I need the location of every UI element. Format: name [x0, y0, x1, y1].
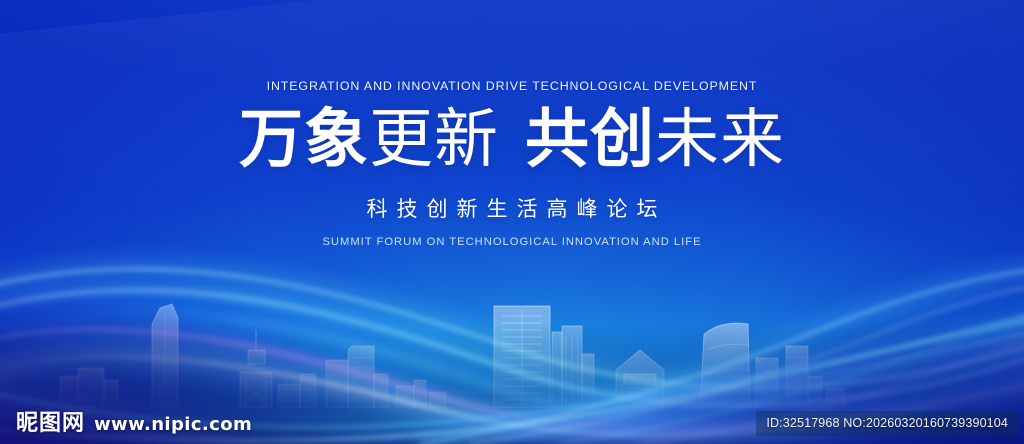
asset-id-text: ID:32517968 NO:20260320160739390104 — [766, 416, 1008, 430]
watermark-brand-cn: 昵图网 — [16, 413, 85, 435]
poster-eyebrow: INTEGRATION AND INNOVATION DRIVE TECHNOL… — [0, 79, 1024, 93]
headline-part1-bold: 万象 — [239, 103, 369, 175]
poster-copy: INTEGRATION AND INNOVATION DRIVE TECHNOL… — [0, 0, 1024, 248]
poster-headline: 万象更新共创未来 — [0, 107, 1024, 171]
headline-part2-bold: 共创 — [525, 103, 655, 175]
poster-subtitle-en: SUMMIT FORUM ON TECHNOLOGICAL INNOVATION… — [0, 236, 1024, 248]
headline-part2-light: 未来 — [655, 103, 785, 175]
headline-part1-light: 更新 — [369, 103, 499, 175]
asset-id-badge: ID:32517968 NO:20260320160739390104 — [756, 411, 1018, 436]
poster-subtitle-cn: 科技创新生活高峰论坛 — [0, 193, 1024, 223]
watermark: 昵图网 www.nipic.com — [16, 413, 252, 435]
watermark-brand-url: www.nipic.com — [94, 416, 252, 435]
poster-banner: INTEGRATION AND INNOVATION DRIVE TECHNOL… — [0, 0, 1024, 444]
